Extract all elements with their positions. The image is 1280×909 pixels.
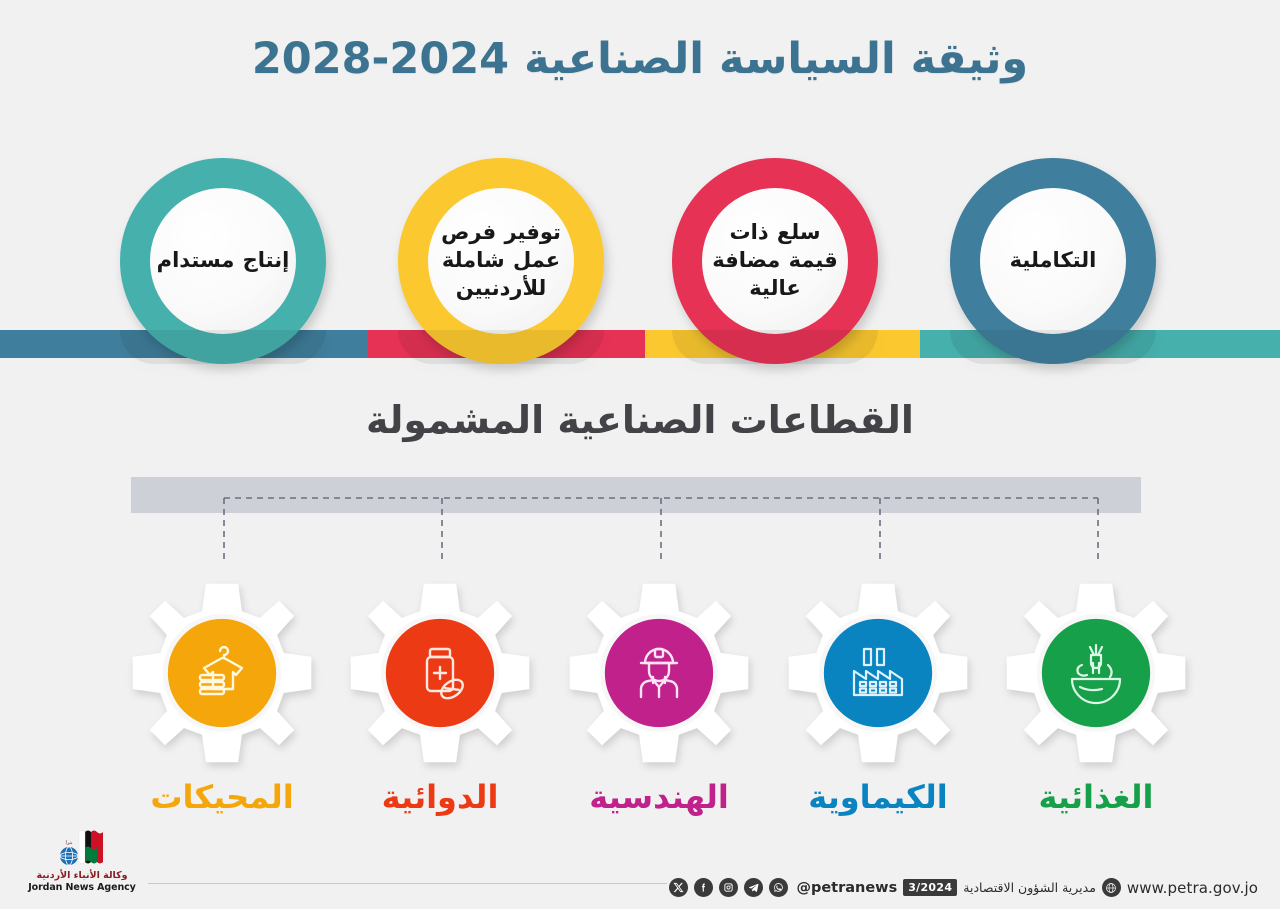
sector-pharmaceuticals[interactable]: الدوائية — [345, 578, 535, 815]
x-twitter-icon[interactable] — [669, 878, 688, 897]
page-title: وثيقة السياسة الصناعية 2024-2028 — [0, 34, 1280, 86]
pillar-circle-inclusive-jobs: توفير فرص عمل شاملة للأردنيين — [398, 158, 604, 364]
engineer-worker-icon — [627, 641, 691, 705]
agency-logo: بترا وكالة الأنباء الأردنية Jordan News … — [22, 828, 142, 893]
sector-label: الهندسية — [564, 780, 754, 815]
facebook-icon[interactable] — [694, 878, 713, 897]
footer: بترا وكالة الأنباء الأردنية Jordan News … — [0, 825, 1280, 909]
agency-name-en: Jordan News Agency — [22, 882, 142, 893]
gear-holder — [345, 578, 535, 768]
factory-icon — [846, 641, 910, 705]
jordan-flag-globe-icon: بترا — [49, 828, 115, 868]
dashed-connectors — [0, 477, 1280, 577]
sector-label: الغذائية — [1001, 780, 1191, 815]
date-badge: 3/2024 — [903, 879, 957, 896]
website-url: www.petra.gov.jo — [1127, 879, 1258, 897]
telegram-icon[interactable] — [744, 878, 763, 897]
sector-label: الكيماوية — [783, 780, 973, 815]
sector-label: الدوائية — [345, 780, 535, 815]
sector-label: المحيكات — [127, 780, 317, 815]
svg-text:بترا: بترا — [65, 840, 72, 846]
pillar-circle-integration: التكاملية — [950, 158, 1156, 364]
social-handle: @petranews — [796, 880, 897, 896]
pillar-label: التكاملية — [986, 247, 1121, 275]
food-bowl-icon — [1064, 641, 1128, 705]
gear-holder — [783, 578, 973, 768]
gear-holder — [127, 578, 317, 768]
pillar-circle-sustainable-production: إنتاج مستدام — [120, 158, 326, 364]
sector-engineering[interactable]: الهندسية — [564, 578, 754, 815]
globe-icon — [1102, 878, 1121, 897]
sectors-row: المحيكات الدوائية — [0, 578, 1280, 828]
footer-contact-bar: @petranews 3/2024 مديرية الشؤون الاقتصاد… — [667, 878, 1260, 897]
whatsapp-icon[interactable] — [769, 878, 788, 897]
pillar-label: توفير فرص عمل شاملة للأردنيين — [434, 219, 569, 302]
page-title-wrapper: وثيقة السياسة الصناعية 2024-2028 — [0, 34, 1280, 86]
gear-holder — [564, 578, 754, 768]
gear-holder — [1001, 578, 1191, 768]
sector-textiles[interactable]: المحيكات — [127, 578, 317, 815]
pillar-label: سلع ذات قيمة مضافة عالية — [708, 219, 843, 302]
pillar-circle-high-value-goods: سلع ذات قيمة مضافة عالية — [672, 158, 878, 364]
agency-name-ar: وكالة الأنباء الأردنية — [22, 871, 142, 881]
pillars-band: إنتاج مستدام توفير فرص عمل شاملة للأردني… — [0, 140, 1280, 355]
department-name: مديرية الشؤون الاقتصادية — [963, 880, 1096, 895]
tshirt-hanger-icon — [190, 641, 254, 705]
pillar-label: إنتاج مستدام — [156, 247, 291, 275]
sector-food[interactable]: الغذائية — [1001, 578, 1191, 815]
sectors-section-title: القطاعات الصناعية المشمولة — [0, 398, 1280, 442]
medicine-bottle-pills-icon — [408, 641, 472, 705]
sector-chemicals[interactable]: الكيماوية — [783, 578, 973, 815]
instagram-icon[interactable] — [719, 878, 738, 897]
